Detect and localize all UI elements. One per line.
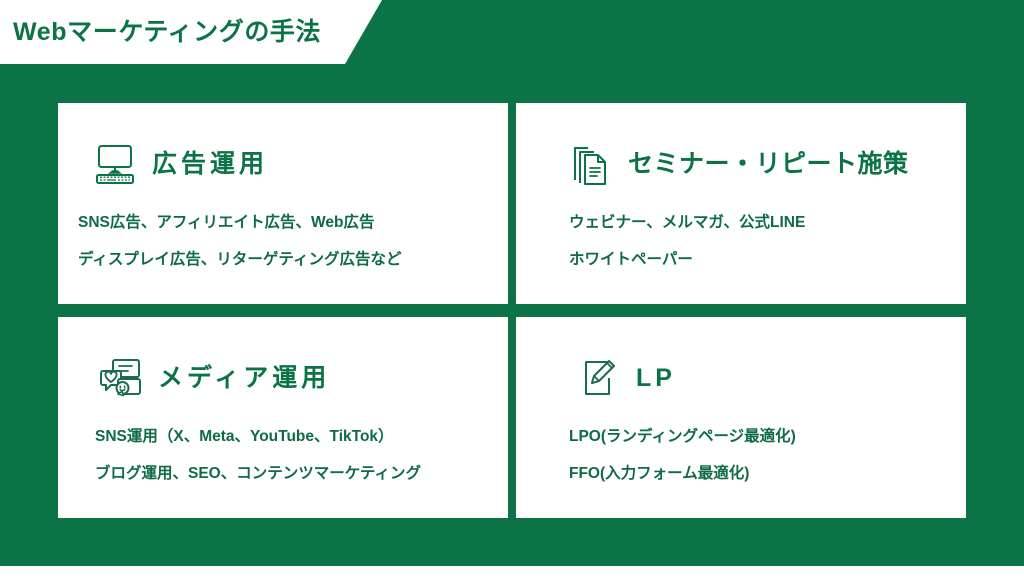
card-header: セミナー・リピート施策 xyxy=(516,135,966,193)
card-body-line: SNS運用（X、Meta、YouTube、TikTok） xyxy=(95,429,508,445)
card-body: ウェビナー、メルマガ、公式LINE ホワイトペーパー xyxy=(516,215,966,267)
chat-bubbles-icon xyxy=(98,355,144,401)
card-body-line: LPO(ランディングページ最適化) xyxy=(569,429,966,445)
card-body-line: ブログ運用、SEO、コンテンツマーケティング xyxy=(95,466,508,482)
card-header: メディア運用 xyxy=(58,349,508,407)
card-advertising: 広告運用 SNS広告、アフィリエイト広告、Web広告 ディスプレイ広告、リターゲ… xyxy=(58,103,508,304)
card-title: 広告運用 xyxy=(152,152,268,177)
stacked-documents-icon xyxy=(568,141,614,187)
method-card-grid: 広告運用 SNS広告、アフィリエイト広告、Web広告 ディスプレイ広告、リターゲ… xyxy=(58,103,966,518)
desktop-monitor-keyboard-icon xyxy=(92,141,138,187)
card-title: LP xyxy=(636,366,676,391)
title-banner: Webマーケティングの手法 xyxy=(0,0,382,64)
card-body-line: FFO(入力フォーム最適化) xyxy=(569,466,966,482)
document-pencil-edit-icon xyxy=(576,355,622,401)
card-title: メディア運用 xyxy=(158,366,330,391)
slide-canvas: Webマーケティングの手法 広告運用 SNS広告、アフ xyxy=(0,0,1024,576)
card-body: SNS運用（X、Meta、YouTube、TikTok） ブログ運用、SEO、コ… xyxy=(58,429,508,481)
card-body-line: ディスプレイ広告、リターゲティング広告など xyxy=(78,252,508,268)
card-lp: LP LPO(ランディングページ最適化) FFO(入力フォーム最適化) xyxy=(516,317,966,518)
card-body: LPO(ランディングページ最適化) FFO(入力フォーム最適化) xyxy=(516,429,966,481)
card-media-operation: メディア運用 SNS運用（X、Meta、YouTube、TikTok） ブログ運… xyxy=(58,317,508,518)
card-title: セミナー・リピート施策 xyxy=(628,152,909,177)
card-seminar-repeat: セミナー・リピート施策 ウェビナー、メルマガ、公式LINE ホワイトペーパー xyxy=(516,103,966,304)
card-body: SNS広告、アフィリエイト広告、Web広告 ディスプレイ広告、リターゲティング広… xyxy=(58,215,508,267)
card-body-line: ウェビナー、メルマガ、公式LINE xyxy=(569,215,966,231)
card-body-line: SNS広告、アフィリエイト広告、Web広告 xyxy=(78,215,508,231)
card-header: 広告運用 xyxy=(58,135,508,193)
page-title: Webマーケティングの手法 xyxy=(13,20,321,45)
card-header: LP xyxy=(516,349,966,407)
card-body-line: ホワイトペーパー xyxy=(569,252,966,268)
